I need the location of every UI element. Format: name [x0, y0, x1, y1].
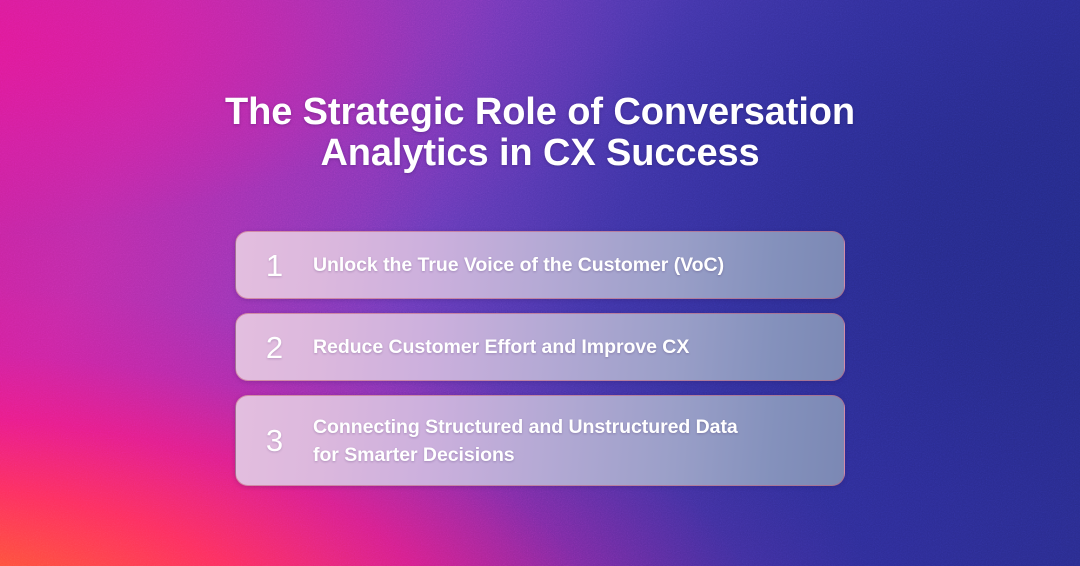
- slide-content: The Strategic Role of Conversation Analy…: [0, 0, 1080, 566]
- list-item-label: Connecting Structured and Unstructured D…: [313, 413, 844, 469]
- list-item-number: 3: [236, 425, 313, 456]
- list-item[interactable]: 3 Connecting Structured and Unstructured…: [235, 395, 845, 486]
- page-title-line-1: The Strategic Role of Conversation: [0, 92, 1080, 133]
- list-item-label-line-1: Connecting Structured and Unstructured D…: [313, 413, 826, 441]
- page-title: The Strategic Role of Conversation Analy…: [0, 92, 1080, 174]
- slide-canvas: The Strategic Role of Conversation Analy…: [0, 0, 1080, 566]
- list-item-label-line-1: Unlock the True Voice of the Customer (V…: [313, 251, 826, 279]
- list-item-label-line-2: for Smarter Decisions: [313, 441, 826, 469]
- list-item-label-line-1: Reduce Customer Effort and Improve CX: [313, 333, 826, 361]
- numbered-point-list: 1 Unlock the True Voice of the Customer …: [235, 231, 845, 486]
- list-item[interactable]: 1 Unlock the True Voice of the Customer …: [235, 231, 845, 299]
- page-title-line-2: Analytics in CX Success: [0, 133, 1080, 174]
- list-item-label: Reduce Customer Effort and Improve CX: [313, 333, 844, 361]
- list-item-label: Unlock the True Voice of the Customer (V…: [313, 251, 844, 279]
- list-item[interactable]: 2 Reduce Customer Effort and Improve CX: [235, 313, 845, 381]
- list-item-number: 1: [236, 250, 313, 281]
- list-item-number: 2: [236, 332, 313, 363]
